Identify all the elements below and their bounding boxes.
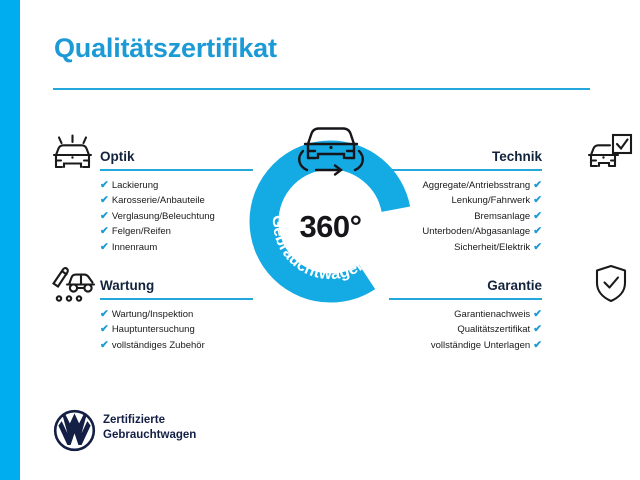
list-item-label: Qualitätszertifikat: [457, 324, 530, 335]
check-icon: ✔: [533, 193, 542, 207]
list-item-label: Lackierung: [112, 180, 158, 191]
check-icon: ✔: [100, 322, 109, 336]
car-checkbox-icon: [588, 132, 634, 174]
list-item-label: vollständiges Zubehör: [112, 340, 205, 351]
list-item-label: Sicherheit/Elektrik: [454, 242, 530, 253]
list-item: Garantienachweis✔: [337, 307, 542, 322]
list-item-label: Unterboden/Abgasanlage: [422, 226, 530, 237]
check-icon: ✔: [533, 338, 542, 352]
list-item-label: Garantienachweis: [454, 309, 530, 320]
check-icon: ✔: [100, 209, 109, 223]
car-service-icon: [50, 263, 96, 305]
title-divider: [53, 88, 590, 90]
vw-lockup-text: Zertifizierte Gebrauchtwagen: [103, 413, 196, 442]
vw-lockup-line2: Gebrauchtwagen: [103, 428, 196, 443]
list-item: ✔Wartung/Inspektion: [100, 307, 305, 322]
list-item-label: Verglasung/Beleuchtung: [112, 211, 215, 222]
section-divider-optik: [100, 169, 253, 171]
list-item-label: Felgen/Reifen: [112, 226, 171, 237]
car-rotate-icon: [286, 118, 376, 180]
list-item: vollständige Unterlagen✔: [337, 338, 542, 353]
check-icon: ✔: [100, 307, 109, 321]
list-item-label: Lenkung/Fahrwerk: [452, 195, 531, 206]
check-icon: ✔: [100, 224, 109, 238]
vw-lockup-line1: Zertifizierte: [103, 413, 196, 428]
list-item-label: Innenraum: [112, 242, 157, 253]
list-item-label: Wartung/Inspektion: [112, 309, 194, 320]
vw-logo: [53, 409, 96, 452]
check-icon: ✔: [533, 224, 542, 238]
check-icon: ✔: [100, 338, 109, 352]
check-icon: ✔: [100, 240, 109, 254]
checklist-wartung: ✔Wartung/Inspektion ✔Hauptuntersuchung ✔…: [100, 307, 305, 353]
page-title: Qualitätszertifikat: [54, 33, 277, 64]
left-accent-bar: [0, 0, 20, 480]
list-item-label: Aggregate/Antriebsstrang: [422, 180, 530, 191]
list-item: ✔Hauptuntersuchung: [100, 322, 305, 337]
check-icon: ✔: [100, 193, 109, 207]
check-icon: ✔: [100, 178, 109, 192]
shield-check-icon: [588, 263, 634, 305]
list-item: Qualitätszertifikat✔: [337, 322, 542, 337]
check-icon: ✔: [533, 209, 542, 223]
check-icon: ✔: [533, 178, 542, 192]
check-icon: ✔: [533, 240, 542, 254]
checklist-garantie: Garantienachweis✔ Qualitätszertifikat✔ v…: [337, 307, 542, 353]
list-item-label: Karosserie/Anbauteile: [112, 195, 205, 206]
check-icon: ✔: [533, 307, 542, 321]
car-shine-icon: [50, 134, 96, 176]
list-item-label: Bremsanlage: [474, 211, 530, 222]
list-item-label: Hauptuntersuchung: [112, 324, 195, 335]
check-icon: ✔: [533, 322, 542, 336]
list-item-label: vollständige Unterlagen: [431, 340, 530, 351]
list-item: ✔vollständiges Zubehör: [100, 338, 305, 353]
section-divider-wartung: [100, 298, 253, 300]
quality-certificate-page: Qualitätszertifikat Optik ✔Lackierung ✔K…: [0, 0, 640, 480]
badge-number: 360°: [249, 209, 412, 245]
